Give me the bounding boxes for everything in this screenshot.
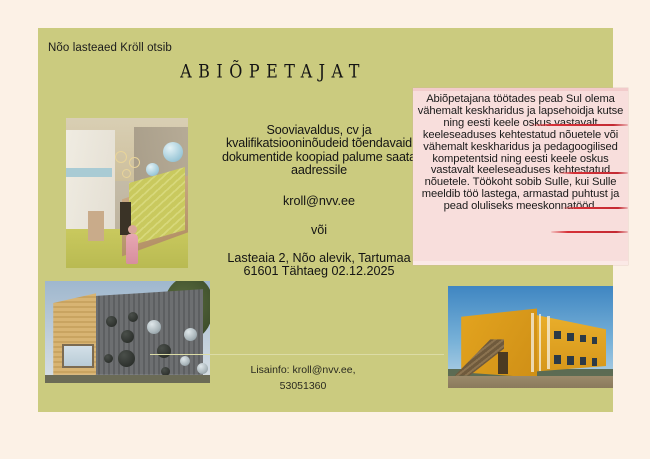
- facade-round-window: [147, 320, 161, 334]
- poster-header: Nõo lasteaed Kröll otsib ABIÕPETAJAT: [38, 28, 613, 96]
- requirements-sticky-note: Abiõpetajana töötades peab Sul olema väh…: [413, 88, 628, 265]
- building-window: [567, 356, 574, 365]
- footer-contact-info: Lisainfo: kroll@nvv.ee, 53051360: [178, 362, 428, 394]
- highlight-strike: [551, 231, 628, 233]
- interior-child-figure: [126, 234, 138, 264]
- interior-door-panel: [88, 211, 104, 241]
- facade-round-window: [128, 312, 138, 322]
- building-stripe: [531, 313, 534, 372]
- footer-contact-phone[interactable]: 53051360: [178, 378, 428, 394]
- kindergarten-interior-photo: [66, 118, 188, 268]
- interior-ring-lamp: [115, 151, 127, 163]
- interior-round-window: [163, 142, 183, 162]
- building-window: [580, 357, 586, 365]
- facade-square-window: [62, 344, 94, 368]
- building-window: [554, 331, 561, 339]
- or-separator: või: [210, 223, 428, 237]
- requirements-text: Abiõpetajana töötades peab Sul olema väh…: [417, 94, 624, 213]
- building-ground: [448, 376, 613, 388]
- facade-round-window: [121, 330, 134, 343]
- interior-child-head: [128, 225, 137, 234]
- application-email[interactable]: kroll@nvv.ee: [210, 194, 428, 208]
- building-stripe: [547, 316, 550, 369]
- facade-round-window: [106, 316, 117, 327]
- postal-address-and-deadline: Lasteaia 2, Nõo alevik, Tartumaa 61601 T…: [210, 252, 428, 279]
- poster-center-copy: Sooviavaldus, cv ja kvalifikatsiooninõud…: [210, 124, 428, 278]
- job-advert-poster: Nõo lasteaed Kröll otsib ABIÕPETAJAT: [0, 0, 650, 459]
- interior-blue-band: [66, 168, 112, 177]
- poster-bottom-margin: [0, 412, 650, 459]
- poster-headline: ABIÕPETAJAT: [38, 60, 508, 82]
- yellow-building-photo: [448, 286, 613, 388]
- building-window: [567, 333, 574, 341]
- poster-kicker: Nõo lasteaed Kröll otsib: [48, 42, 172, 54]
- footer-divider: [150, 354, 444, 355]
- facade-round-window: [118, 350, 135, 367]
- building-window: [554, 355, 561, 364]
- building-stripe: [539, 314, 541, 371]
- footer-contact-email[interactable]: Lisainfo: kroll@nvv.ee,: [178, 362, 428, 378]
- facade-round-window: [184, 328, 197, 341]
- building-window: [580, 335, 586, 342]
- building-window: [592, 337, 597, 344]
- building-entrance-door: [498, 352, 508, 374]
- building-window: [592, 358, 597, 366]
- application-instructions: Sooviavaldus, cv ja kvalifikatsiooninõud…: [210, 124, 428, 178]
